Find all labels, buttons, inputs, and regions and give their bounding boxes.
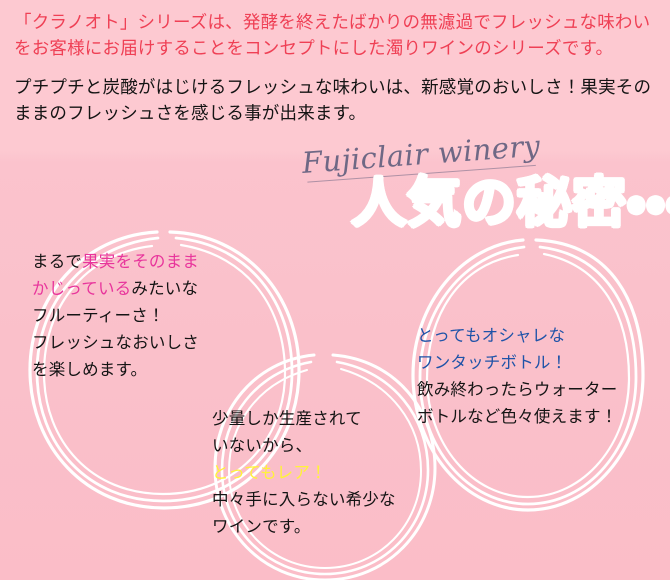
bubble-line: ワンタッチボトル！: [417, 349, 617, 376]
bubble-text-run: ワインです。: [212, 517, 311, 536]
bubble-text-run: 飲み終わったらウォーター: [417, 380, 617, 399]
bubble-line: 中々手に入らない希少な: [212, 486, 396, 513]
bubble-line: ボトルなど色々使えます！: [417, 403, 617, 430]
bubble-line: 少量しか生産されて: [212, 405, 396, 432]
bubble-text-1: まるで果実をそのままかじっているみたいなフルーティーさ！フレッシュなおいしさを楽…: [32, 248, 199, 383]
bubble-text-run: かじっている: [32, 279, 131, 298]
bubble-line: フルーティーさ！: [32, 302, 199, 329]
bubble-line: いないから、: [212, 432, 396, 459]
promo-banner: .rs { fill:none; stroke:#ffffff; stroke-…: [0, 0, 670, 580]
winery-script-title: Fujiclair winery: [301, 129, 542, 180]
bubble-line: とってもオシャレな: [417, 322, 617, 349]
bubble-text-2: 少量しか生産されていないから、とってもレア！中々手に入らない希少なワインです。: [212, 405, 396, 540]
bubble-text-run: フルーティーさ！: [32, 306, 165, 325]
bubble-line: かじっているみたいな: [32, 275, 199, 302]
lead-paragraph: 「クラノオト」シリーズは、発酵を終えたばかりの無濾過でフレッシュな味わいをお客様…: [14, 10, 656, 61]
headline-block: Fujiclair winery 人気の秘密・・・: [0, 146, 670, 254]
intro-copy: 「クラノオト」シリーズは、発酵を終えたばかりの無濾過でフレッシュな味わいをお客様…: [0, 0, 670, 126]
bubble-line: とってもレア！: [212, 459, 396, 486]
bubble-text-run: まるで: [32, 252, 82, 271]
bubble-text-run: みたいな: [131, 279, 198, 298]
bubble-text-run: いないから、: [212, 436, 312, 455]
bubble-text-run: 果実をそのまま: [82, 252, 199, 271]
bubble-text-run: ボトルなど色々使えます！: [417, 407, 617, 426]
bubble-text-run: とってもオシャレな: [417, 326, 565, 345]
bubble-text-run: 少量しか生産されて: [212, 409, 362, 428]
bubble-line: フレッシュなおいしさ: [32, 329, 199, 356]
bubble-text-run: とってもレア！: [212, 463, 327, 482]
bubble-line: を楽しめます。: [32, 356, 199, 383]
body-paragraph: プチプチと炭酸がはじけるフレッシュな味わいは、新感覚のおいしさ！果実そのままのフ…: [14, 75, 656, 126]
bubble-text-run: を楽しめます。: [32, 360, 147, 379]
bubble-text-run: ワンタッチボトル！: [417, 353, 567, 372]
bubble-text-run: 中々手に入らない希少な: [212, 490, 396, 509]
bubble-line: 飲み終わったらウォーター: [417, 376, 617, 403]
popular-secret-title: 人気の秘密・・・: [352, 174, 670, 232]
bubble-text-run: フレッシュなおいしさ: [32, 333, 199, 352]
bubble-text-3: とってもオシャレなワンタッチボトル！飲み終わったらウォーターボトルなど色々使えま…: [417, 322, 617, 430]
bubble-line: ワインです。: [212, 513, 396, 540]
bubble-line: まるで果実をそのまま: [32, 248, 199, 275]
